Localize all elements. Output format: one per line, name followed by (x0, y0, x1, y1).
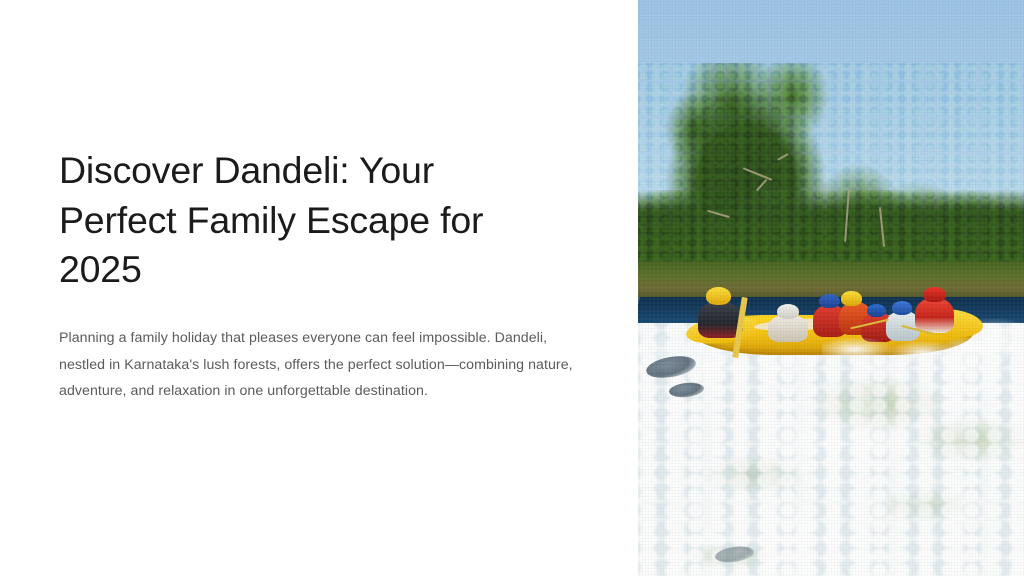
photo-raft (692, 286, 974, 355)
photo-bow-splash (822, 335, 985, 364)
raft-rafter-helmet (867, 304, 887, 318)
photo-artwork (638, 0, 1024, 576)
page-title: Discover Dandeli: Your Perfect Family Es… (59, 146, 539, 295)
raft-rafter-jacket (915, 298, 954, 333)
hero-photo (638, 0, 1024, 576)
text-column: Discover Dandeli: Your Perfect Family Es… (59, 0, 589, 576)
raft-rafter-helmet (892, 301, 912, 315)
raft-rafter-jacket (768, 315, 807, 343)
slide: Discover Dandeli: Your Perfect Family Es… (0, 0, 1024, 576)
raft-rafter-helmet (923, 287, 946, 302)
raft-rafter-helmet (819, 294, 840, 309)
raft-rafter-helmet (777, 304, 800, 319)
body-paragraph: Planning a family holiday that pleases e… (59, 325, 580, 405)
raft-rafter-helmet (841, 291, 862, 306)
raft-guide-helmet (706, 287, 731, 305)
photo-leaf-texture (638, 63, 1024, 288)
